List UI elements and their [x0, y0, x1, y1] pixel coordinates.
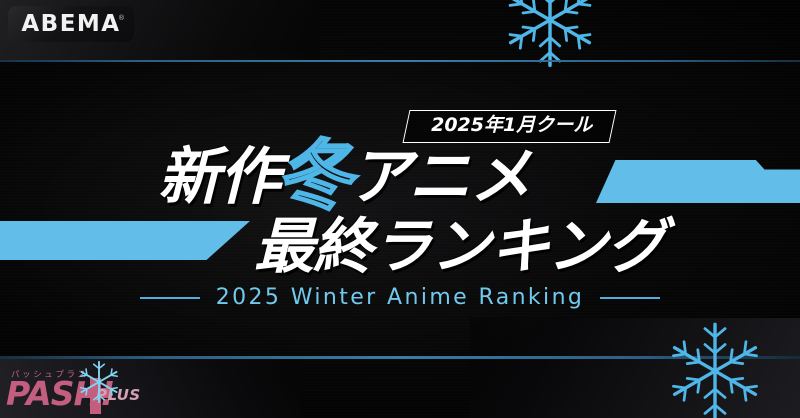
title-word-fuyu: 冬 — [276, 138, 351, 214]
background-corner-bottom-right — [470, 318, 800, 418]
title-word-anime: アニメ — [349, 146, 531, 208]
registered-mark-icon: ® — [119, 15, 124, 22]
season-badge-label: 2025年1月クール — [431, 116, 592, 136]
pash-plus-label: PLUS — [96, 388, 141, 403]
title-line-1: 新作 冬 アニメ — [158, 134, 531, 208]
pash-plus-watermark[interactable]: パッシュプラス PASH! PLUS — [4, 366, 164, 416]
title-word-shinsaku: 新作 — [158, 146, 280, 208]
title-block: 新作 冬 アニメ 最終ランキング — [0, 94, 800, 294]
subtitle-text: 2025 Winter Anime Ranking — [216, 285, 585, 310]
divider-top — [0, 60, 800, 62]
title-word-final-ranking: 最終ランキング — [254, 217, 665, 277]
promo-banner: ABEMA ® 新作 冬 アニメ 最終ランキング 2025年1月クール 2025… — [0, 0, 800, 418]
abema-logo[interactable]: ABEMA ® — [8, 6, 134, 42]
season-badge: 2025年1月クール — [402, 110, 616, 143]
subtitle-rule-left — [140, 297, 200, 299]
divider-bottom — [0, 356, 800, 359]
subtitle-rule-right — [600, 297, 660, 299]
abema-logo-wordmark: ABEMA — [21, 11, 120, 37]
subtitle-row: 2025 Winter Anime Ranking — [0, 285, 800, 310]
